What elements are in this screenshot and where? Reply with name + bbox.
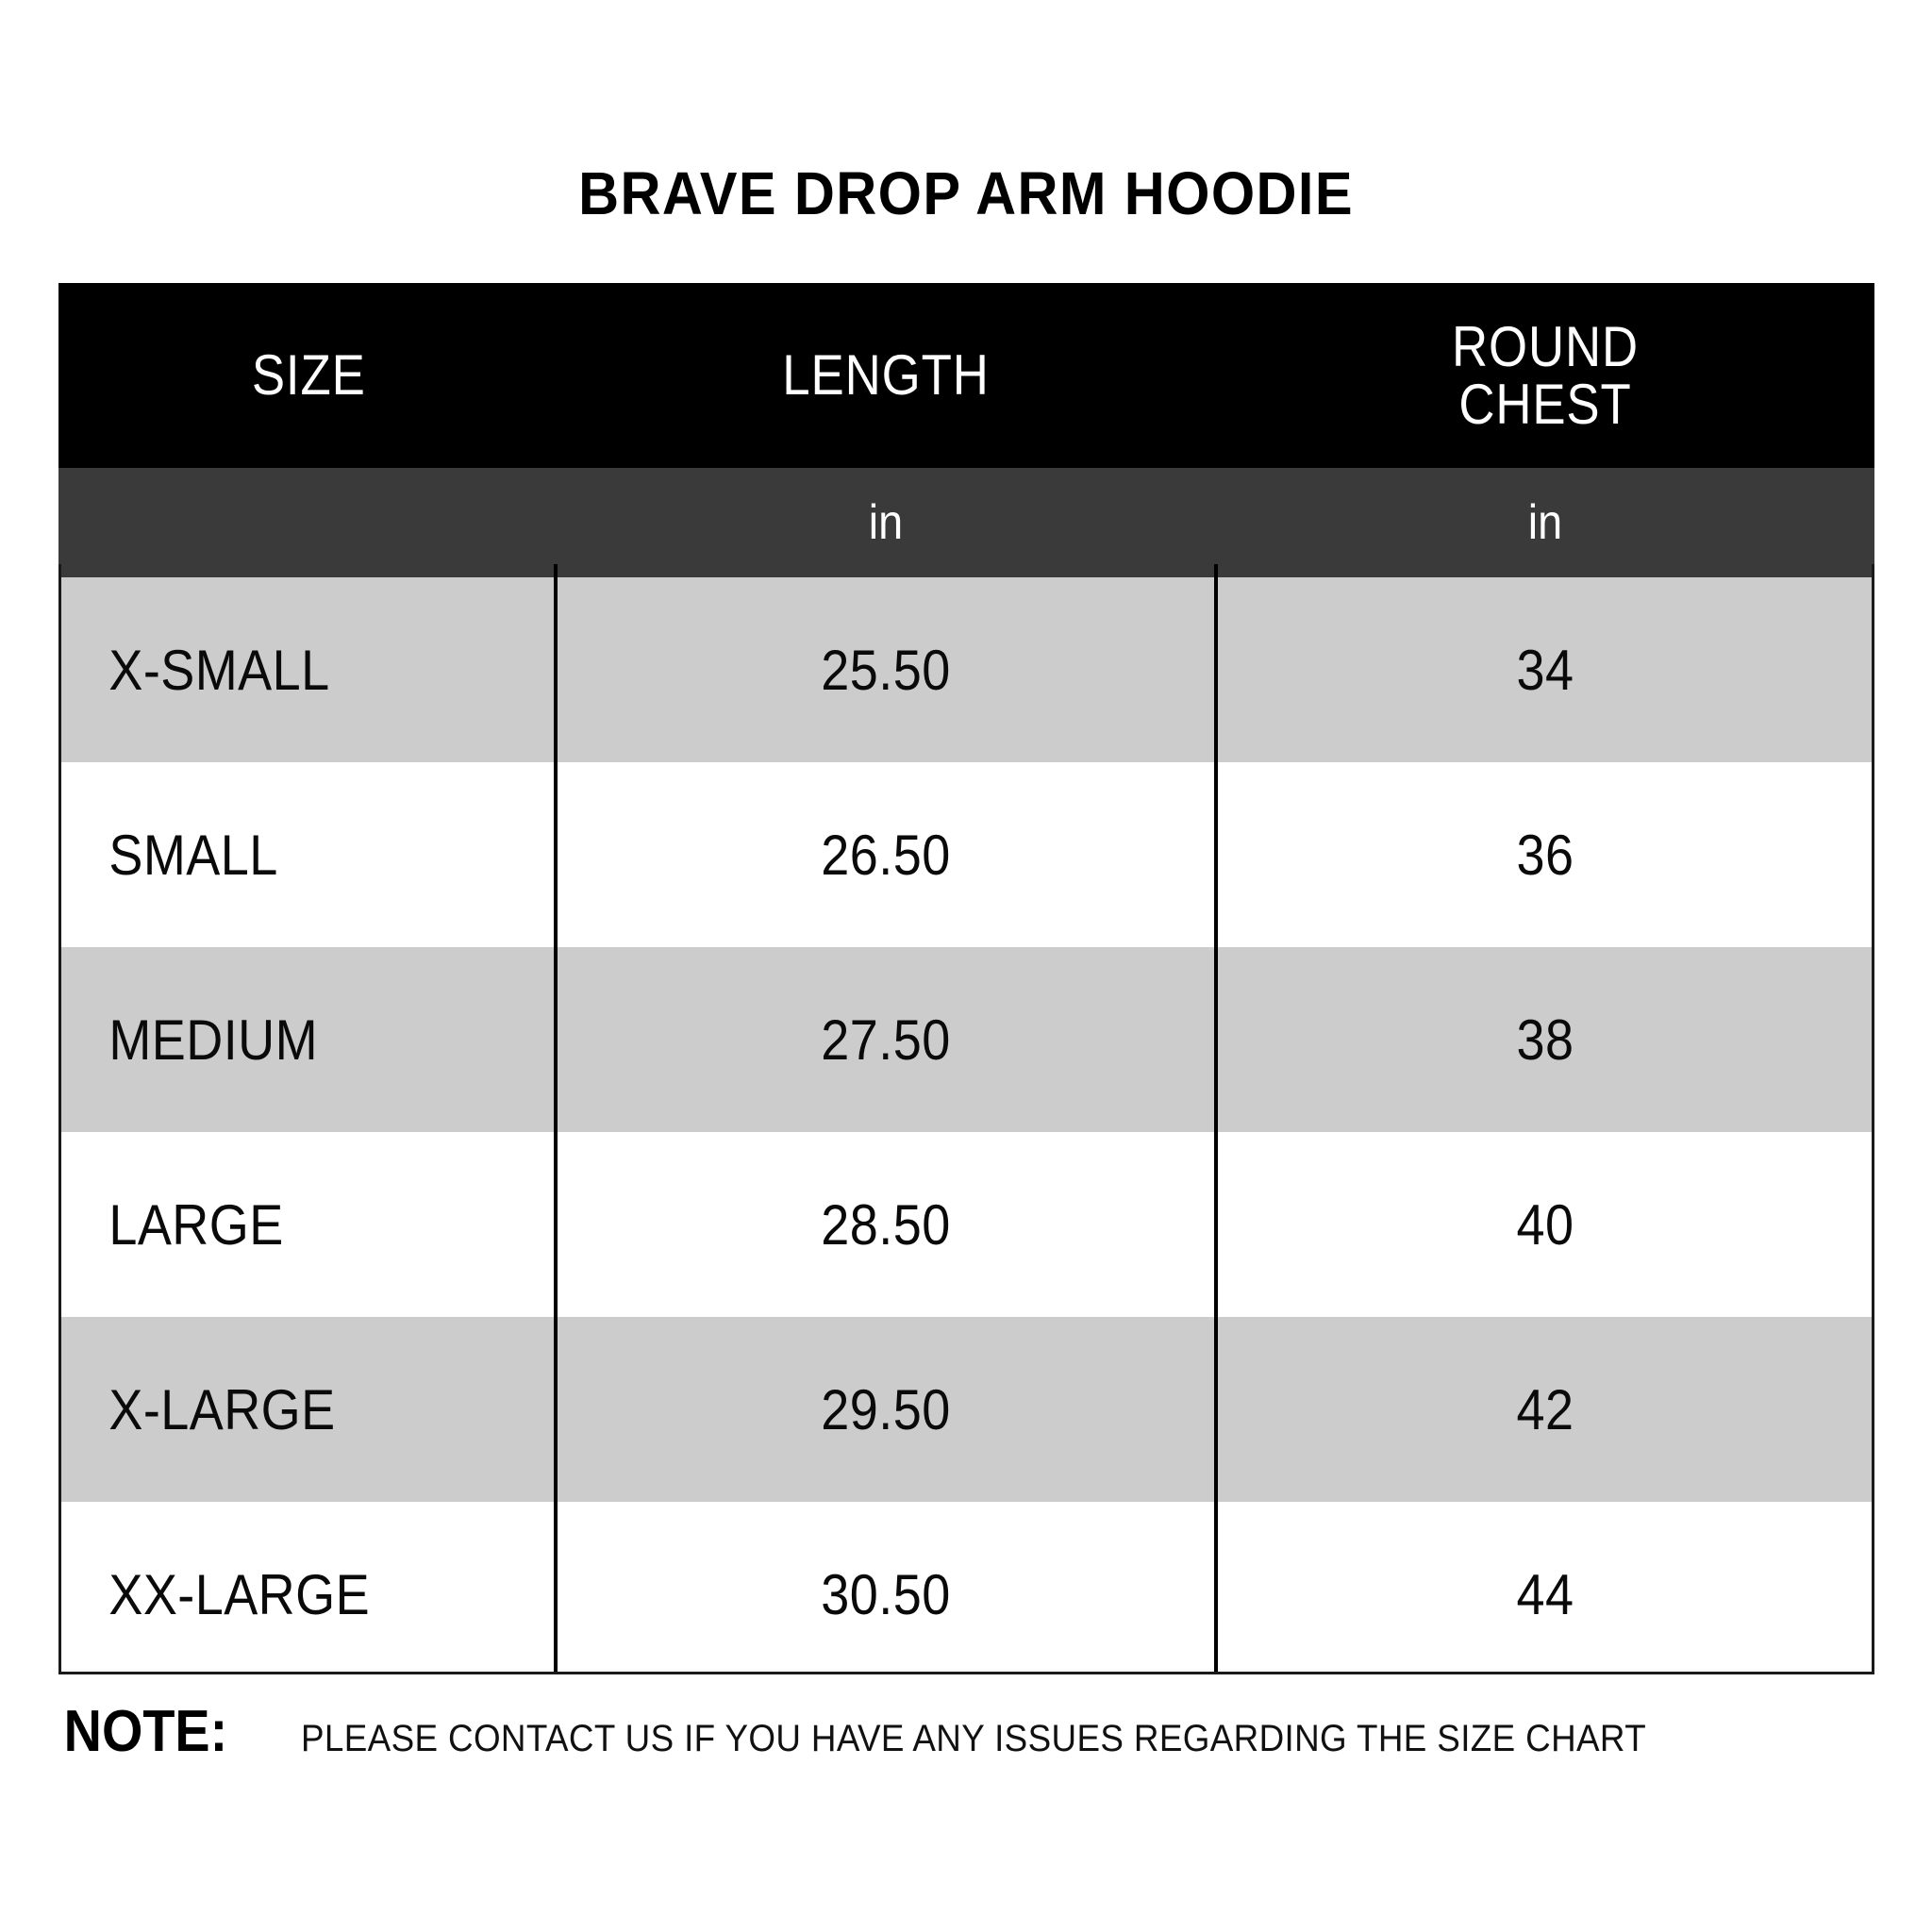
table-left-border [58,564,61,1674]
cell-chest: 34 [1249,577,1841,762]
table-header-row: SIZE LENGTH ROUND CHEST [58,283,1874,468]
cell-size-value: X-LARGE [83,1377,530,1442]
cell-length-value: 30.50 [821,1562,950,1627]
cell-length: 25.50 [589,577,1183,762]
cell-length-value: 25.50 [821,638,950,703]
note-section: NOTE: PLEASE CONTACT US IF YOU HAVE ANY … [55,1698,1904,1765]
cell-size-value: MEDIUM [83,1008,530,1073]
cell-chest-value: 38 [1517,1008,1574,1073]
column-header-length-label: LENGTH [782,346,989,404]
cell-length-value: 29.50 [821,1377,950,1442]
table-row: MEDIUM 27.50 38 [58,947,1874,1132]
table-row: XX-LARGE 30.50 44 [58,1502,1874,1687]
column-header-round-chest: ROUND CHEST [1256,283,1835,468]
table-units-row: in in [58,468,1874,577]
cell-size: XX-LARGE [83,1502,530,1687]
cell-chest-value: 34 [1517,638,1574,703]
table-right-border [1872,564,1874,1674]
cell-chest: 42 [1249,1317,1841,1502]
column-header-size-label: SIZE [248,346,365,404]
cell-size: LARGE [83,1132,530,1317]
units-length-label: in [869,494,903,551]
cell-chest: 38 [1249,947,1841,1132]
cell-size: X-SMALL [83,577,530,762]
cell-chest-value: 36 [1517,823,1574,888]
cell-size-value: X-SMALL [83,638,530,703]
cell-length: 28.50 [589,1132,1183,1317]
cell-length: 29.50 [589,1317,1183,1502]
cell-length: 27.50 [589,947,1183,1132]
note-label: NOTE: [64,1698,228,1765]
cell-size-value: SMALL [83,823,530,888]
page-title: BRAVE DROP ARM HOODIE [68,158,1865,228]
column-header-size: SIZE [89,283,526,468]
cell-chest: 40 [1249,1132,1841,1317]
note-text: PLEASE CONTACT US IF YOU HAVE ANY ISSUES… [301,1718,1646,1760]
table-row: SMALL 26.50 36 [58,762,1874,947]
units-chest: in [1249,468,1841,577]
units-size [83,468,530,577]
size-chart-sheet: BRAVE DROP ARM HOODIE SIZE LENGTH ROUND … [0,0,1932,1932]
cell-length: 30.50 [589,1502,1183,1687]
cell-size-value: XX-LARGE [83,1562,530,1627]
cell-chest: 36 [1249,762,1841,947]
cell-length-value: 28.50 [821,1192,950,1257]
cell-size-value: LARGE [83,1192,530,1257]
size-chart-table: SIZE LENGTH ROUND CHEST in in X-SMALL [58,283,1874,1687]
cell-size: MEDIUM [83,947,530,1132]
units-length: in [589,468,1183,577]
cell-chest-value: 42 [1517,1377,1574,1442]
column-header-round-chest-label: ROUND CHEST [1452,318,1639,433]
cell-length: 26.50 [589,762,1183,947]
cell-length-value: 27.50 [821,1008,950,1073]
cell-chest-value: 40 [1517,1192,1574,1257]
table-bottom-border [58,1672,1874,1674]
units-chest-label: in [1528,494,1562,551]
cell-size: X-LARGE [83,1317,530,1502]
table-row: LARGE 28.50 40 [58,1132,1874,1317]
cell-size: SMALL [83,762,530,947]
table-row: X-LARGE 29.50 42 [58,1317,1874,1502]
cell-length-value: 26.50 [821,823,950,888]
table-row: X-SMALL 25.50 34 [58,577,1874,762]
column-header-length: LENGTH [595,283,1176,468]
cell-chest: 44 [1249,1502,1841,1687]
cell-chest-value: 44 [1517,1562,1574,1627]
